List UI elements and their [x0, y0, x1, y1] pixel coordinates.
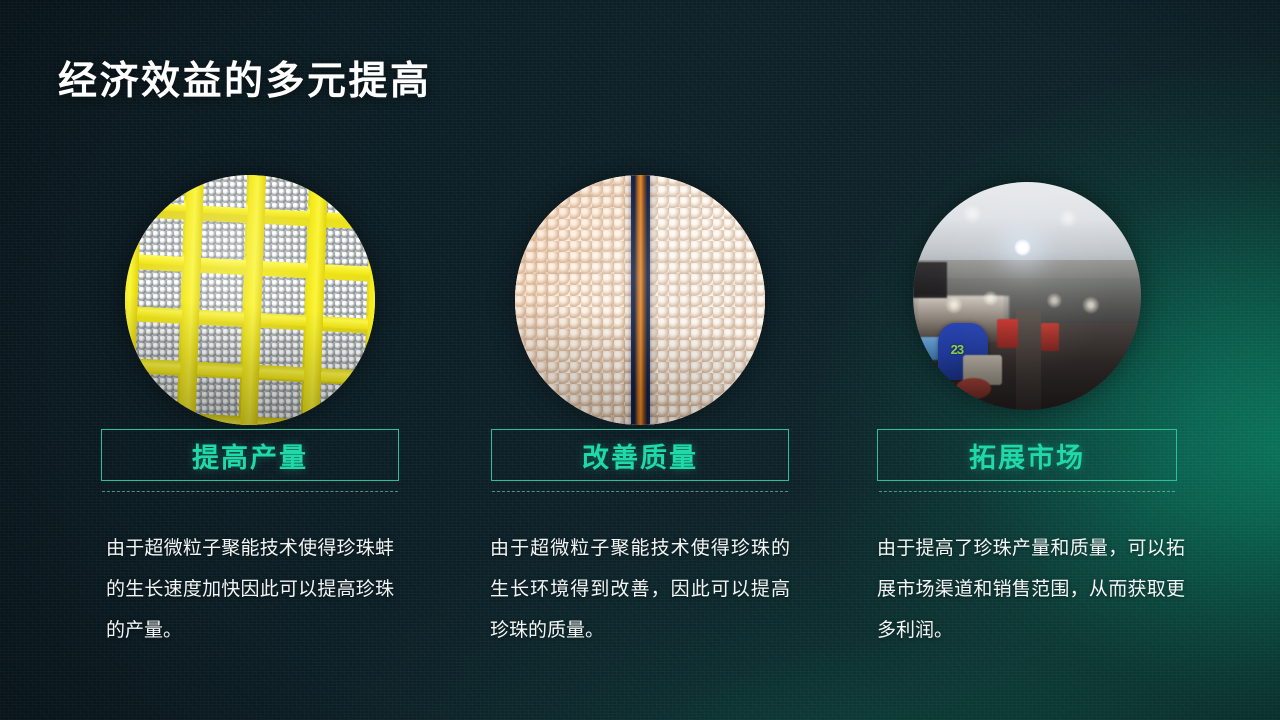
photo-shading — [913, 182, 1141, 410]
card-heading-label: 改善质量 — [582, 436, 698, 475]
card-heading-label: 拓展市场 — [969, 436, 1085, 475]
content-column: 改善质量 由于超微粒子聚能技术使得珍珠的生长环境得到改善，因此可以提高珍珠的质量… — [475, 0, 805, 720]
card-heading-label: 提高产量 — [192, 436, 308, 475]
card-body-text: 由于提高了珍珠产量和质量，可以拓展市场渠道和销售范围，从而获取更多利润。 — [877, 528, 1185, 651]
heading-divider — [492, 491, 788, 492]
content-column: 提高产量 由于超微粒子聚能技术使得珍珠蚌的生长速度加快因此可以提高珍珠的产量。 — [85, 0, 415, 720]
photo-shading — [515, 175, 765, 425]
photo-shading — [125, 175, 375, 425]
sorted-pearls-photo — [515, 175, 765, 425]
card-heading-box: 改善质量 — [491, 429, 789, 481]
heading-divider — [102, 491, 398, 492]
card-body-text: 由于超微粒子聚能技术使得珍珠的生长环境得到改善，因此可以提高珍珠的质量。 — [490, 528, 790, 651]
slide-canvas: 经济效益的多元提高 提高产量 由于超微粒子聚能技术使得珍珠蚌的生长速度加快因此可… — [0, 0, 1280, 720]
heading-divider — [879, 491, 1175, 492]
content-column: 23 拓展市场 由于提高了珍珠产量和质量，可以拓展市场渠道和销售范围，从而获取更… — [862, 0, 1192, 720]
pearl-culture-tray-photo — [125, 175, 375, 425]
card-heading-box: 拓展市场 — [877, 429, 1177, 481]
pearl-workshop-photo: 23 — [913, 182, 1141, 410]
card-heading-box: 提高产量 — [101, 429, 399, 481]
card-body-text: 由于超微粒子聚能技术使得珍珠蚌的生长速度加快因此可以提高珍珠的产量。 — [106, 528, 394, 651]
